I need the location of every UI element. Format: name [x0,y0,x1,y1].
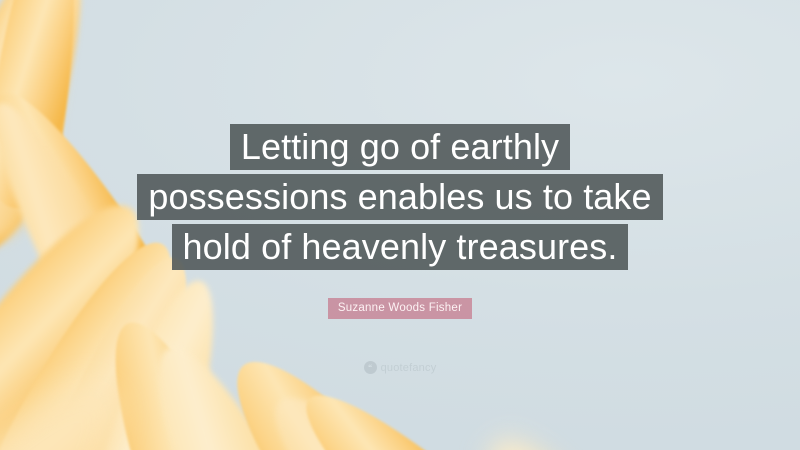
author-name: Suzanne Woods Fisher [328,298,472,319]
quote-line-text: hold of heavenly treasures. [172,224,629,270]
author-attribution: Suzanne Woods Fisher [0,298,800,319]
quote-line: possessions enables us to take [0,174,800,220]
quote-line-text: possessions enables us to take [137,174,662,220]
quote-line: Letting go of earthly [0,124,800,170]
petal-bottom-right-faint [458,416,677,450]
watermark-brand-text: quotefancy [381,362,437,374]
quote-badge-icon: “ [364,361,377,374]
quote-line-text: Letting go of earthly [230,124,570,170]
watermark: “ quotefancy [0,361,800,374]
quote-line: hold of heavenly treasures. [0,224,800,270]
quote-poster: Letting go of earthly possessions enable… [0,0,800,450]
quote-text-block: Letting go of earthly possessions enable… [0,124,800,274]
